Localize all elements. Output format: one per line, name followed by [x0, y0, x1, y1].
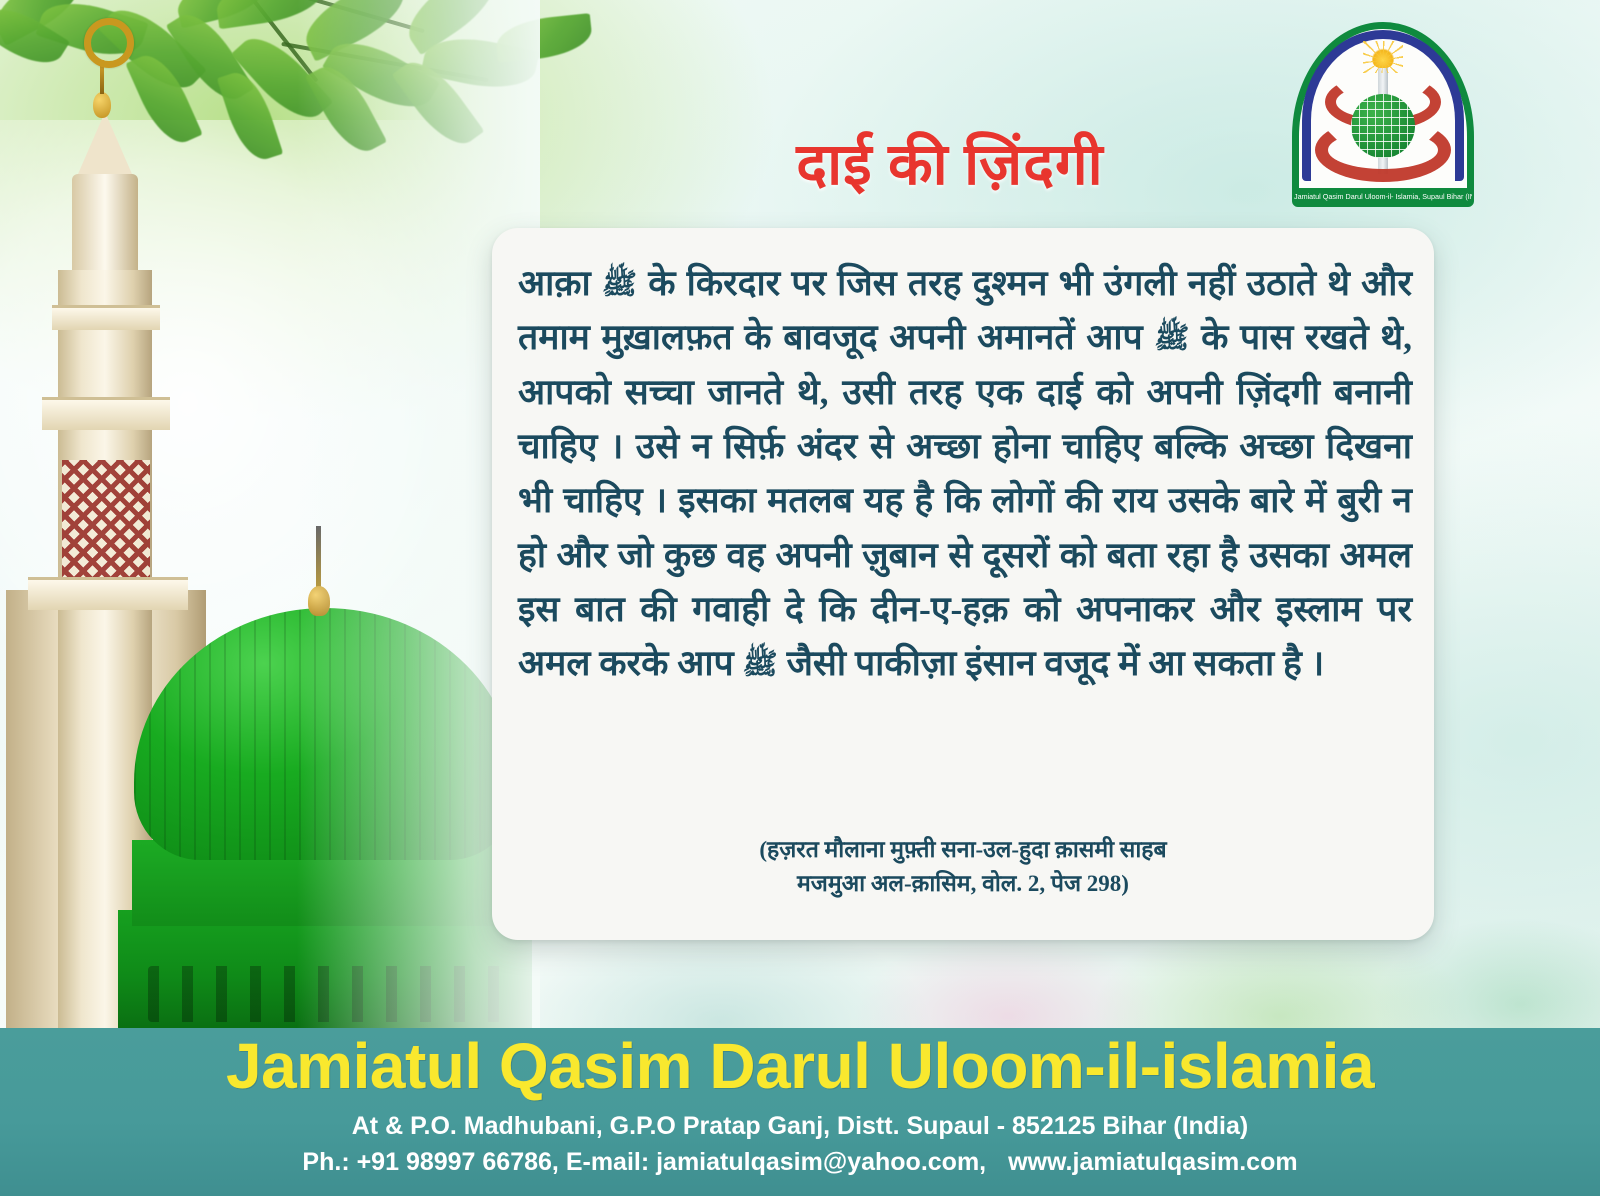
- minaret-top-section: [72, 174, 138, 270]
- logo-lamp-icon: [1372, 48, 1394, 68]
- dome-bulb: [134, 608, 516, 860]
- citation: (हज़रत मौलाना मुफ़्ती सना-उल-हुदा क़ासमी…: [492, 833, 1434, 900]
- footer-banner: Jamiatul Qasim Darul Uloom-il-islamia At…: [0, 1028, 1600, 1196]
- logo-caption: Jamiatul Qasim Darul Uloom-il- Islamia, …: [1294, 188, 1472, 205]
- logo-crescent-bottom: [1315, 118, 1451, 182]
- organization-name: Jamiatul Qasim Darul Uloom-il-islamia: [0, 1034, 1600, 1098]
- crescent-moon-icon: [84, 18, 134, 68]
- contact-line: Ph.: +91 98997 66786, E-mail: jamiatulqa…: [0, 1146, 1600, 1178]
- citation-line-2: मजमुआ अल-क़ासिम, वोल. 2, पेज 298): [492, 867, 1434, 900]
- phone-email-text: Ph.: +91 98997 66786, E-mail: jamiatulqa…: [302, 1148, 986, 1176]
- dome-drum-lower: [118, 910, 532, 1030]
- page-title: दाई की ज़िंदगी: [620, 122, 1280, 201]
- dome-finial: [308, 586, 330, 616]
- dome-spire: [316, 526, 321, 590]
- address-line: At & P.O. Madhubani, G.P.O Pratap Ganj, …: [0, 1110, 1600, 1142]
- minaret-balcony: [52, 305, 160, 330]
- citation-line-1: (हज़रत मौलाना मुफ़्ती सना-उल-हुदा क़ासमी…: [492, 833, 1434, 866]
- minaret-cone: [78, 112, 132, 174]
- minaret-balcony: [42, 397, 170, 430]
- website-text: www.jamiatulqasim.com: [1008, 1148, 1297, 1176]
- green-dome: [110, 560, 540, 1030]
- dome-arch-openings: [148, 966, 518, 1022]
- quote-card: आक़ा ﷺ के किरदार पर जिस तरह दुश्मन भी उं…: [492, 228, 1434, 940]
- institution-logo: Jamiatul Qasim Darul Uloom-il- Islamia, …: [1292, 22, 1474, 207]
- mosque-illustration: [0, 0, 540, 1030]
- poster-canvas: दाई की ज़िंदगी Jamiatul Qasim Darul Uloo…: [0, 0, 1600, 1196]
- quote-text: आक़ा ﷺ के किरदार पर जिस तरह दुश्मन भी उं…: [518, 256, 1412, 691]
- minaret-finial-bulb: [93, 92, 111, 118]
